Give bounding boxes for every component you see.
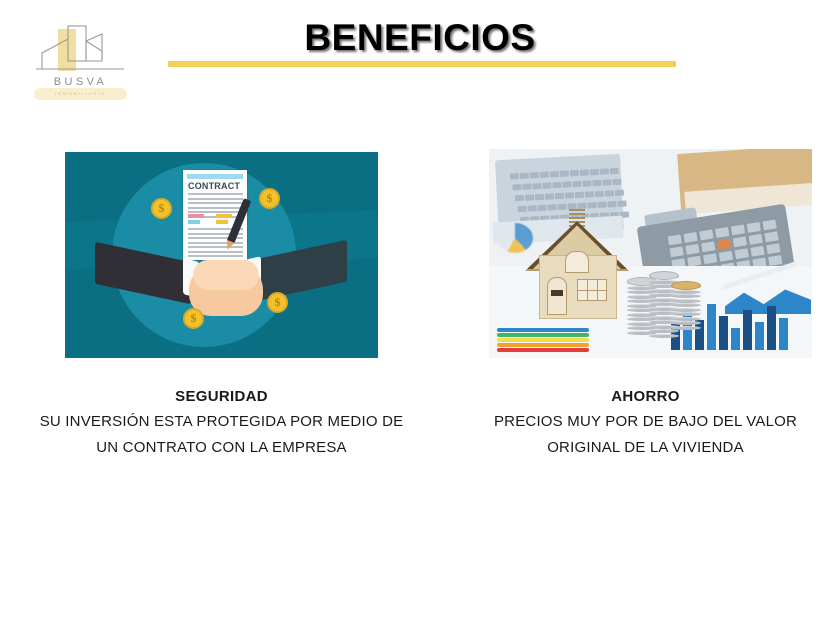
card-image-seguridad: CONTRACT $ $ $ $ bbox=[65, 152, 378, 358]
house-attic-window bbox=[565, 251, 589, 273]
coin-stack-top-gold bbox=[671, 281, 701, 290]
caption-heading: AHORRO bbox=[458, 388, 833, 405]
rainbow-chart-graphic bbox=[497, 322, 589, 352]
wooden-model-house bbox=[525, 207, 629, 319]
document-header-bar bbox=[187, 174, 243, 179]
caption-ahorro: AHORRO PRECIOS MUY POR DE BAJO DEL VALOR… bbox=[458, 388, 833, 461]
title-underline-rule bbox=[168, 61, 676, 67]
caption-heading: SEGURIDAD bbox=[34, 388, 409, 405]
logo-subtitle: INMOBILIARIA bbox=[28, 91, 133, 96]
card-image-ahorro bbox=[489, 149, 812, 358]
caption-body: SU INVERSIÓN ESTA PROTEGIDA POR MEDIO DE… bbox=[34, 409, 409, 461]
coin-stacks bbox=[627, 267, 701, 319]
coin-icon: $ bbox=[183, 308, 204, 329]
coin-icon: $ bbox=[259, 188, 280, 209]
page-title: BENEFICIOS bbox=[0, 17, 840, 59]
logo-name: BUSVA bbox=[28, 76, 133, 88]
photo-backdrop bbox=[489, 149, 812, 358]
caption-body: PRECIOS MUY POR DE BAJO DEL VALOR ORIGIN… bbox=[458, 409, 833, 461]
coin-icon: $ bbox=[151, 198, 172, 219]
caption-seguridad: SEGURIDAD SU INVERSIÓN ESTA PROTEGIDA PO… bbox=[34, 388, 409, 461]
document-title: CONTRACT bbox=[188, 181, 244, 191]
handshake-upper-hand bbox=[193, 260, 259, 290]
house-window bbox=[577, 279, 607, 301]
coin-stack bbox=[671, 285, 701, 330]
house-door bbox=[547, 277, 567, 315]
coin-icon: $ bbox=[267, 292, 288, 313]
slide-canvas: BUSVA INMOBILIARIA BENEFICIOS CONTRACT bbox=[0, 0, 840, 630]
coin-stack-top bbox=[649, 271, 679, 280]
